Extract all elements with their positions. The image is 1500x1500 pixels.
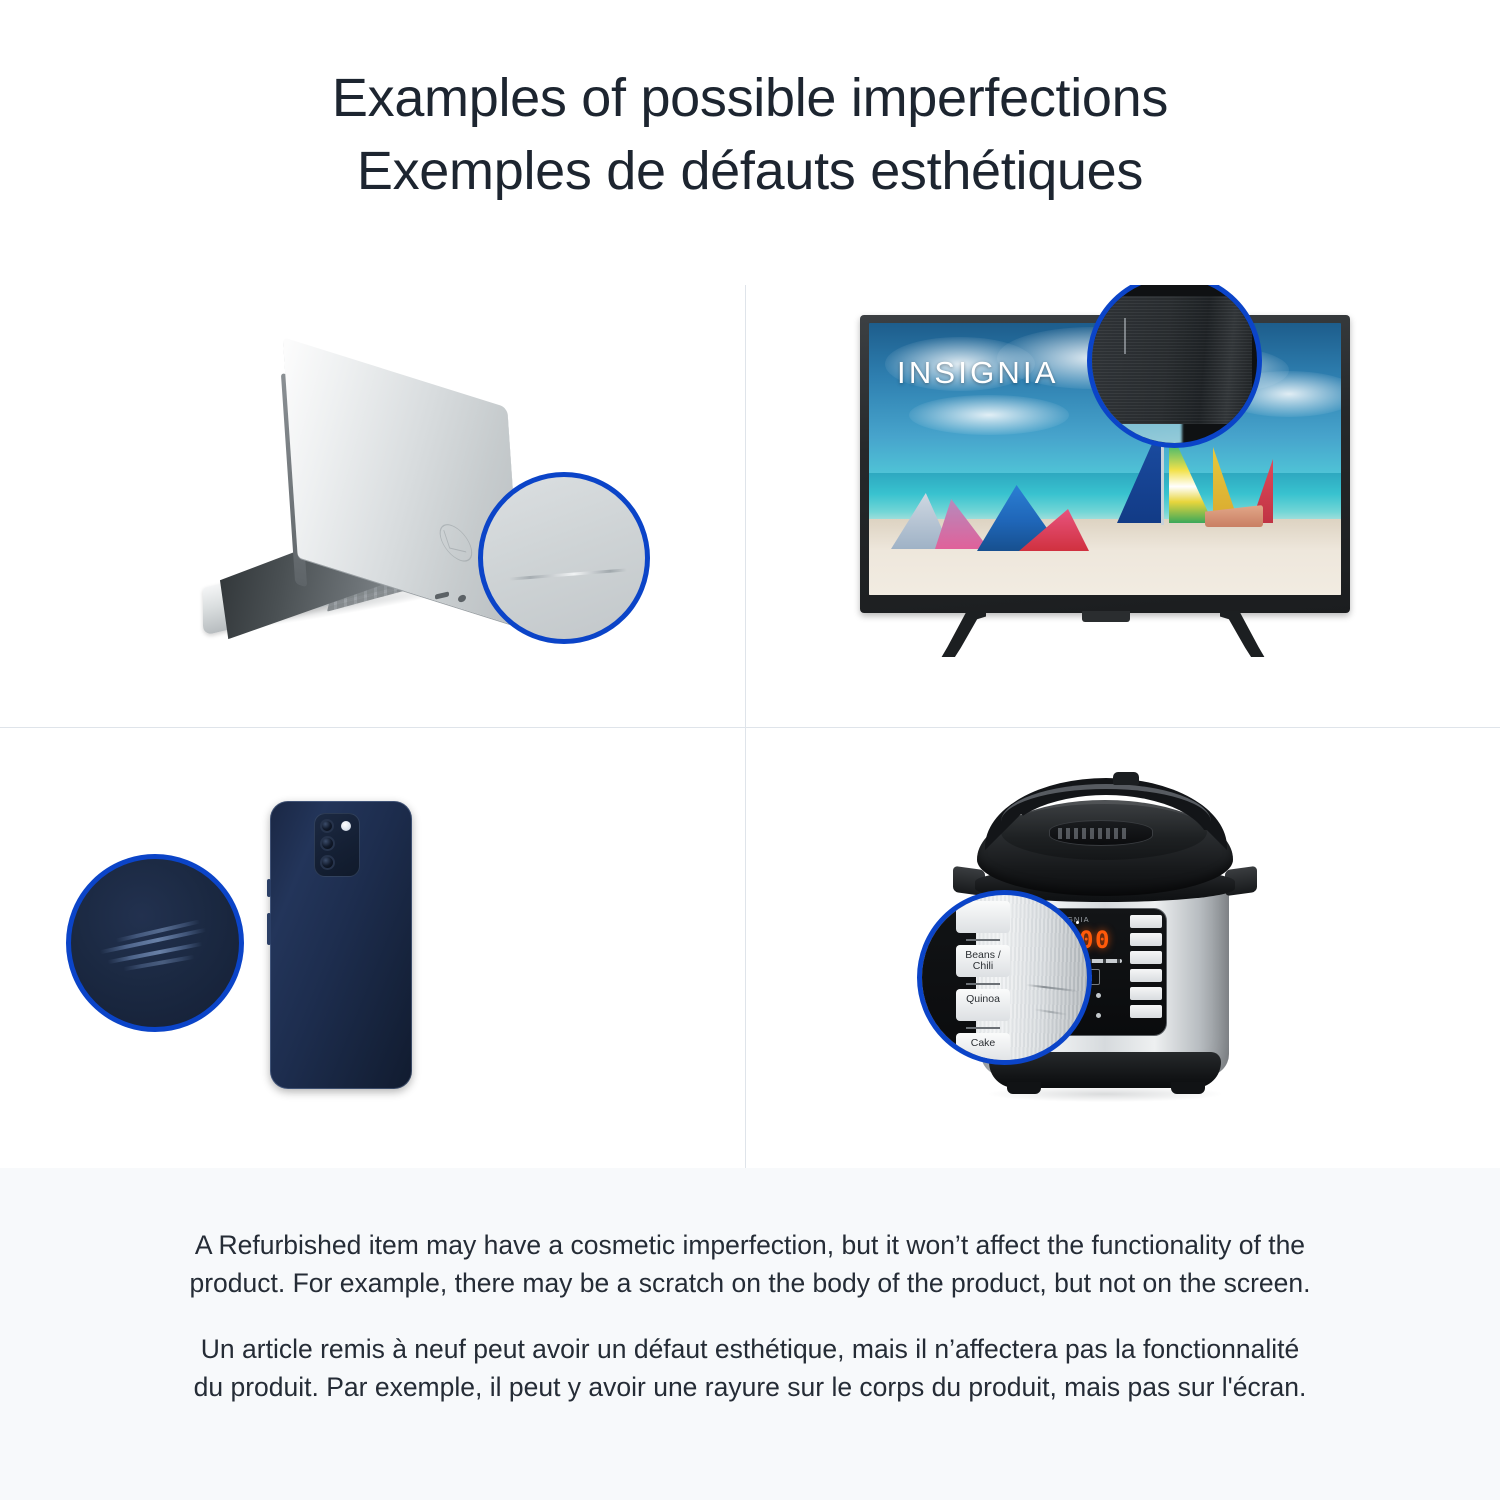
tv-leg-right: [1220, 611, 1294, 657]
cooker-key[interactable]: [1096, 1013, 1101, 1018]
cooker-illustration: INSIGNIA 8:00: [755, 736, 1500, 1177]
grid-divider-horizontal: [0, 727, 1500, 728]
tv-illustration: INSIGNIA: [755, 285, 1500, 726]
disclaimer-text-en: A Refurbished item may have a cosmetic i…: [186, 1226, 1314, 1302]
magnifier-phone-scratches: [66, 854, 244, 1032]
cooker-zoom-button-veggies[interactable]: [956, 901, 1010, 933]
disclaimer-text-fr: Un article remis à neuf peut avoir un dé…: [186, 1330, 1314, 1406]
page-title: Examples of possible imperfections Exemp…: [0, 0, 1500, 285]
phone-illustration: [0, 736, 745, 1177]
phone-frame-edge: [270, 801, 412, 1089]
phone-power-button: [267, 913, 271, 945]
tv-corner-bezel: [1087, 296, 1252, 424]
example-cell-smartphone[interactable]: [0, 736, 745, 1177]
cooker-program-buttons[interactable]: [1130, 915, 1162, 1031]
cooker-program-button[interactable]: [1130, 987, 1162, 1000]
page-title-fr: Exemples de défauts esthétiques: [0, 135, 1500, 208]
laptop-brand-logo-icon: [439, 517, 474, 568]
tv-leg-left: [912, 611, 986, 657]
laptop-scratch-mark: [509, 568, 627, 580]
cooker-zoom-button-quinoa[interactable]: Quinoa: [956, 989, 1010, 1021]
magnifier-tv-bezel-corner: [1087, 285, 1262, 448]
laptop-illustration: [0, 285, 745, 726]
cooker-zoom-divider: [966, 939, 1000, 941]
magnifier-cooker-scratch: Beans / Chili Quinoa Cake: [917, 890, 1092, 1065]
cooker-zoom-divider: [966, 983, 1000, 985]
examples-grid: INSIGNIA: [0, 285, 1500, 1168]
cooker-scratch-mark: [1026, 984, 1078, 992]
cooker-program-button[interactable]: [1130, 969, 1162, 982]
example-cell-laptop[interactable]: [0, 285, 745, 726]
cooker-program-button[interactable]: [1130, 933, 1162, 946]
cooker-zoom-button-beans-chili[interactable]: Beans / Chili: [956, 945, 1010, 977]
cooker-handle-highlight: [1001, 784, 1211, 822]
example-cell-pressure-cooker[interactable]: INSIGNIA 8:00: [755, 736, 1500, 1177]
tv-brand-logo: INSIGNIA: [897, 355, 1059, 391]
cooker-foot-left: [1007, 1082, 1041, 1094]
disclaimer-section: A Refurbished item may have a cosmetic i…: [0, 1168, 1500, 1500]
cooker-foot-right: [1171, 1082, 1205, 1094]
cooker-scratch-mark: [1034, 1008, 1068, 1015]
cooker-program-button[interactable]: [1130, 1005, 1162, 1018]
magnifier-laptop-scratch: [478, 472, 650, 644]
phone-product-image: [238, 801, 508, 1131]
tv-bezel-blemish: [1124, 318, 1126, 354]
cooker-program-button[interactable]: [1130, 951, 1162, 964]
cooker-program-button[interactable]: [1130, 915, 1162, 928]
example-cell-television[interactable]: INSIGNIA: [755, 285, 1500, 726]
cooker-key[interactable]: [1096, 993, 1101, 998]
cooker-zoom-divider: [966, 1027, 1000, 1029]
cooker-steam-vent: [1113, 772, 1139, 785]
cloud-shape: [909, 395, 1069, 435]
page-title-en: Examples of possible imperfections: [0, 62, 1500, 135]
cooker-status-indicator: [1076, 921, 1079, 924]
tv-stand-bar: [1082, 611, 1130, 622]
phone-volume-button: [267, 879, 271, 897]
